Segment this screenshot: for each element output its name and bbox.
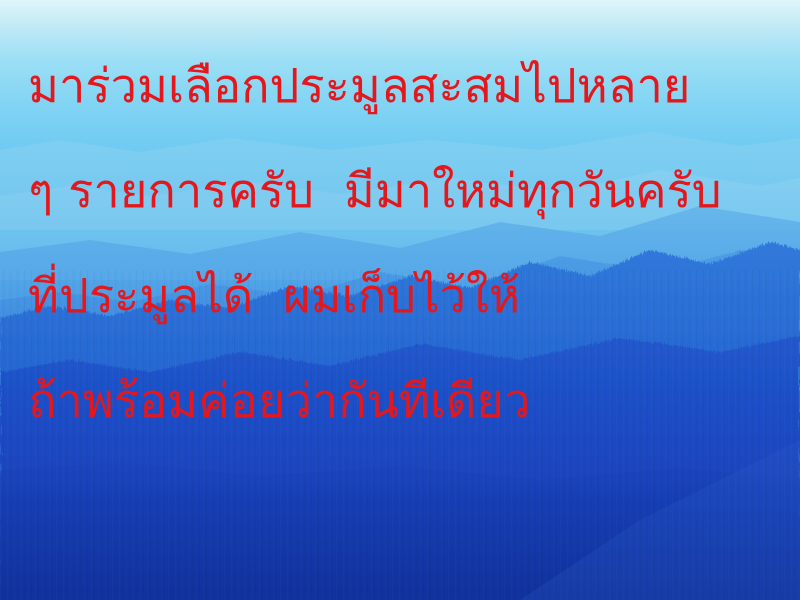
caption-line-3: ที่ประมูลได้ ผมเก็บไว้ให้ — [28, 244, 800, 349]
caption-line-1: มาร่วมเลือกประมูลสะสมไปหลาย — [28, 34, 800, 139]
caption-line-2: ๆ รายการครับ มีมาใหม่ทุกวันครับ — [28, 139, 800, 244]
image-canvas: มาร่วมเลือกประมูลสะสมไปหลาย ๆ รายการครับ… — [0, 0, 800, 600]
caption-line-4: ถ้าพร้อมค่อยว่ากันทีเดียว — [28, 349, 800, 454]
caption-overlay: มาร่วมเลือกประมูลสะสมไปหลาย ๆ รายการครับ… — [0, 0, 800, 600]
